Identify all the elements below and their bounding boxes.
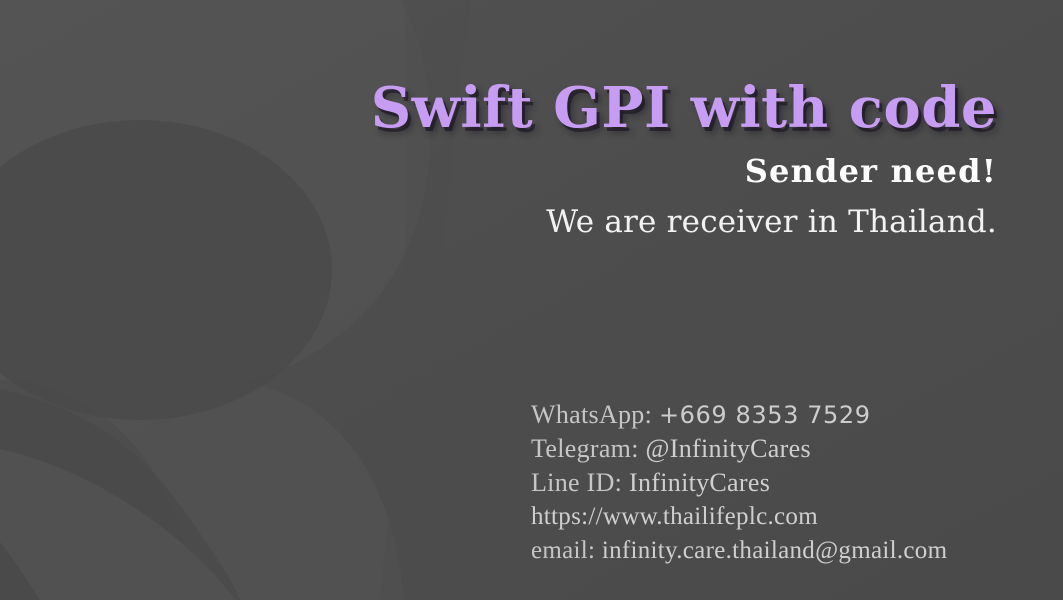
contact-label-line-id: Line ID: (531, 468, 622, 497)
subtitle-text: Sender need! (0, 152, 997, 190)
page-title: Swift GPI with code (0, 76, 997, 140)
tagline-text: We are receiver in Thailand. (0, 204, 997, 240)
headline-block: Swift GPI with code Sender need! We are … (0, 76, 997, 240)
slide-content: Swift GPI with code Sender need! We are … (0, 0, 1063, 600)
contact-details: WhatsApp: +669 8353 7529 Telegram: @Infi… (531, 398, 1031, 568)
contact-row-email: email: infinity.care.thailand@gmail.com (531, 534, 1031, 568)
contact-value-website[interactable]: https://www.thailifeplc.com (531, 503, 818, 530)
contact-label-telegram: Telegram: (531, 434, 639, 463)
presentation-slide: Swift GPI with code Sender need! We are … (0, 0, 1063, 600)
contact-label-whatsapp: WhatsApp: (531, 400, 652, 429)
contact-row-telegram: Telegram: @InfinityCares (531, 432, 1031, 466)
contact-value-line-id[interactable]: InfinityCares (629, 468, 770, 497)
contact-value-whatsapp[interactable]: +669 8353 7529 (659, 401, 871, 429)
contact-row-line-id: Line ID: InfinityCares (531, 466, 1031, 500)
contact-row-whatsapp: WhatsApp: +669 8353 7529 (531, 398, 1031, 432)
contact-value-telegram[interactable]: @InfinityCares (646, 434, 811, 463)
contact-label-email: email: (531, 537, 595, 564)
contact-value-email[interactable]: infinity.care.thailand@gmail.com (602, 537, 947, 564)
contact-row-website: https://www.thailifeplc.com (531, 500, 1031, 534)
